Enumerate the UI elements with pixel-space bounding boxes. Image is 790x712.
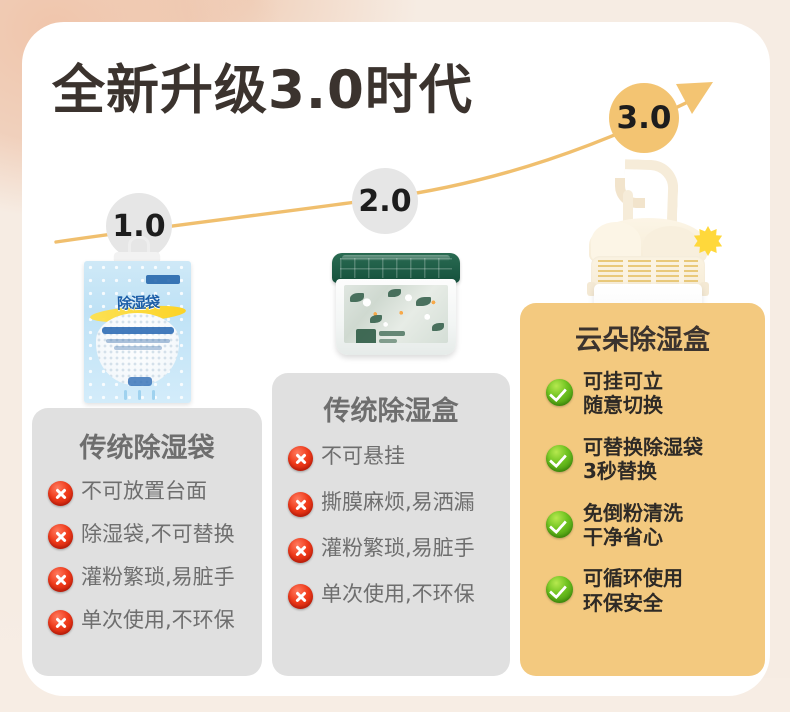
feature-text: 不可放置台面 — [81, 479, 207, 504]
feature-text: 单次使用,不环保 — [321, 582, 475, 607]
box-leaf-3 — [416, 297, 431, 306]
bag-body: 除湿袋 — [84, 261, 191, 403]
x-mark-icon — [288, 584, 313, 609]
feature-list: 不可放置台面 除湿袋,不可替换 灌粉繁琐,易脏手 单次使用,不环保 — [32, 465, 262, 635]
x-mark-icon — [48, 567, 73, 592]
check-mark-icon — [546, 379, 573, 406]
vent-gap-2 — [651, 260, 656, 285]
bag-subtitle-bar — [102, 327, 174, 334]
box-lid-grid — [340, 258, 452, 278]
product-image-traditional-box — [330, 253, 462, 358]
feature-list: 可挂可立 随意切换 可替换除湿袋 3秒替换 免倒粉清洗 干净省心 — [520, 357, 765, 615]
arrow-head-icon — [676, 82, 713, 114]
list-item: 不可放置台面 — [48, 479, 262, 506]
box-leaf-2 — [388, 289, 401, 297]
x-mark-icon — [288, 446, 313, 471]
feature-text: 可挂可立 随意切换 — [583, 369, 663, 418]
vent-gap-3 — [679, 260, 684, 285]
list-item: 灌粉繁琐,易脏手 — [288, 536, 510, 563]
list-item: 单次使用,不环保 — [288, 582, 510, 609]
vent-gap-1 — [623, 260, 628, 285]
feature-line: 可挂可立 — [583, 369, 663, 393]
list-item: 可替换除湿袋 3秒替换 — [546, 435, 765, 484]
feature-text: 灌粉繁琐,易脏手 — [321, 536, 475, 561]
feature-list: 不可悬挂 撕膜麻烦,易洒漏 灌粉繁琐,易脏手 单次使用,不环保 — [272, 428, 510, 609]
x-mark-icon — [288, 492, 313, 517]
x-mark-icon — [288, 538, 313, 563]
list-item: 单次使用,不环保 — [48, 608, 262, 635]
box-floral-label — [344, 285, 448, 343]
feature-line: 可替换除湿袋 — [583, 435, 703, 459]
comparison-card-cloud-box: 云朵除湿盒 可挂可立 随意切换 可替换除湿袋 3秒替换 免倒粉清洗 — [520, 303, 765, 676]
list-item: 灌粉繁琐,易脏手 — [48, 565, 262, 592]
feature-line: 可循环使用 — [583, 566, 683, 590]
box-brand-line-1 — [379, 331, 405, 336]
feature-text: 撕膜麻烦,易洒漏 — [321, 490, 475, 515]
x-mark-icon — [48, 524, 73, 549]
box-brand-mark — [356, 329, 376, 343]
product-image-cloud-box — [575, 160, 725, 320]
feature-line: 随意切换 — [583, 393, 663, 417]
list-item: 可循环使用 环保安全 — [546, 566, 765, 615]
list-item: 撕膜麻烦,易洒漏 — [288, 490, 510, 517]
list-item: 不可悬挂 — [288, 444, 510, 471]
feature-line: 干净省心 — [583, 525, 663, 549]
box-leaf-1 — [350, 293, 364, 302]
box-body — [336, 279, 456, 355]
card-title: 传统除湿袋 — [32, 408, 262, 465]
feature-text: 免倒粉清洗 干净省心 — [583, 501, 683, 550]
bag-bottom-tag — [128, 377, 152, 386]
check-mark-icon — [546, 445, 573, 472]
bag-corner-tag — [146, 275, 180, 284]
box-leaf-5 — [432, 323, 444, 331]
feature-text: 灌粉繁琐,易脏手 — [81, 565, 235, 590]
feature-text: 单次使用,不环保 — [81, 608, 235, 633]
version-badge-3: 3.0 — [609, 83, 679, 153]
feature-text: 可循环使用 环保安全 — [583, 566, 683, 615]
bag-water-drop-3 — [152, 390, 155, 400]
feature-text: 可替换除湿袋 3秒替换 — [583, 435, 703, 484]
box-brand-line-2 — [379, 339, 397, 343]
infographic-stage: 全新升级3.0时代 1.0 2.0 3.0 除湿袋 — [0, 0, 790, 712]
x-mark-icon — [48, 610, 73, 635]
bag-text-line-1 — [106, 339, 170, 343]
bag-water-drop-2 — [138, 390, 141, 400]
x-mark-icon — [48, 481, 73, 506]
feature-text: 除湿袋,不可替换 — [81, 522, 235, 547]
bag-text-line-2 — [114, 346, 162, 350]
box-leaf-4 — [370, 315, 382, 323]
version-badge-2: 2.0 — [352, 168, 418, 234]
list-item: 可挂可立 随意切换 — [546, 369, 765, 418]
feature-text: 不可悬挂 — [321, 444, 405, 469]
comparison-card-traditional-bag: 传统除湿袋 不可放置台面 除湿袋,不可替换 灌粉繁琐,易脏手 单次使用,不环保 — [32, 408, 262, 676]
list-item: 除湿袋,不可替换 — [48, 522, 262, 549]
feature-line: 3秒替换 — [583, 459, 657, 483]
comparison-card-traditional-box: 传统除湿盒 不可悬挂 撕膜麻烦,易洒漏 灌粉繁琐,易脏手 单次使用,不环保 — [272, 373, 510, 676]
card-title: 传统除湿盒 — [272, 373, 510, 428]
feature-line: 免倒粉清洗 — [583, 501, 683, 525]
feature-line: 环保安全 — [583, 591, 663, 615]
check-mark-icon — [546, 576, 573, 603]
bag-water-drop-1 — [124, 390, 127, 400]
product-image-dehumidifier-bag: 除湿袋 — [80, 252, 195, 407]
list-item: 免倒粉清洗 干净省心 — [546, 501, 765, 550]
check-mark-icon — [546, 511, 573, 538]
card-title: 云朵除湿盒 — [520, 303, 765, 357]
box-lid-highlight — [342, 255, 450, 261]
